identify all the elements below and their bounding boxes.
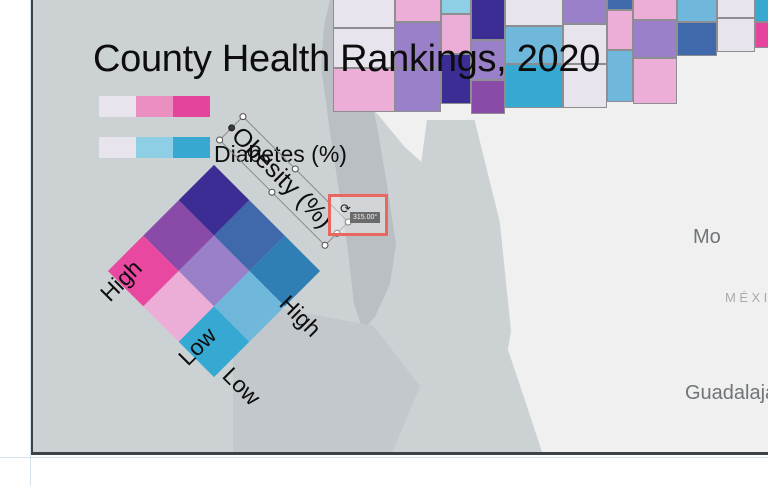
legend-swatch-obesity-ramp-1	[136, 137, 173, 158]
legend-swatch-obesity-ramp-0	[99, 137, 136, 158]
layout-canvas[interactable]: Mo MÉXICO Guadalajara County Health Rank…	[31, 0, 768, 455]
legend-swatch-diabetes-ramp-2	[173, 96, 210, 117]
county-polygon[interactable]	[755, 0, 768, 22]
legend-swatch-diabetes-ramp-0	[99, 96, 136, 117]
county-polygon[interactable]	[755, 22, 768, 48]
landmass-mexico-mainland	[463, 150, 768, 452]
legend-swatch-obesity-ramp-2	[173, 137, 210, 158]
page-guide-horizontal	[0, 457, 768, 458]
page-guide-vertical	[30, 0, 31, 486]
county-polygon[interactable]	[633, 58, 677, 104]
county-polygon[interactable]	[717, 0, 755, 18]
county-polygon[interactable]	[471, 80, 505, 114]
map-layout-app: Mo MÉXICO Guadalajara County Health Rank…	[0, 0, 768, 486]
county-polygon[interactable]	[677, 22, 717, 56]
county-polygon[interactable]	[441, 0, 471, 14]
legend-ramp-diabetes[interactable]	[99, 96, 210, 117]
county-polygon[interactable]	[563, 0, 607, 24]
county-polygon[interactable]	[633, 0, 677, 20]
county-polygon[interactable]	[717, 18, 755, 52]
county-polygon[interactable]	[633, 20, 677, 58]
county-polygon[interactable]	[677, 0, 717, 22]
county-polygon[interactable]	[505, 0, 563, 26]
county-polygon[interactable]	[333, 0, 395, 28]
county-polygon[interactable]	[607, 50, 633, 102]
county-polygon[interactable]	[607, 10, 633, 50]
page-title[interactable]: County Health Rankings, 2020	[93, 38, 600, 81]
county-polygon[interactable]	[471, 0, 505, 40]
county-polygon[interactable]	[607, 0, 633, 10]
county-polygon[interactable]	[395, 0, 441, 22]
rotation-angle-tooltip: 315.00°	[350, 212, 380, 223]
legend-swatch-diabetes-ramp-1	[136, 96, 173, 117]
legend-ramp-obesity[interactable]	[99, 137, 210, 158]
rotation-highlight-box: ⟳ 315.00°	[328, 194, 388, 236]
